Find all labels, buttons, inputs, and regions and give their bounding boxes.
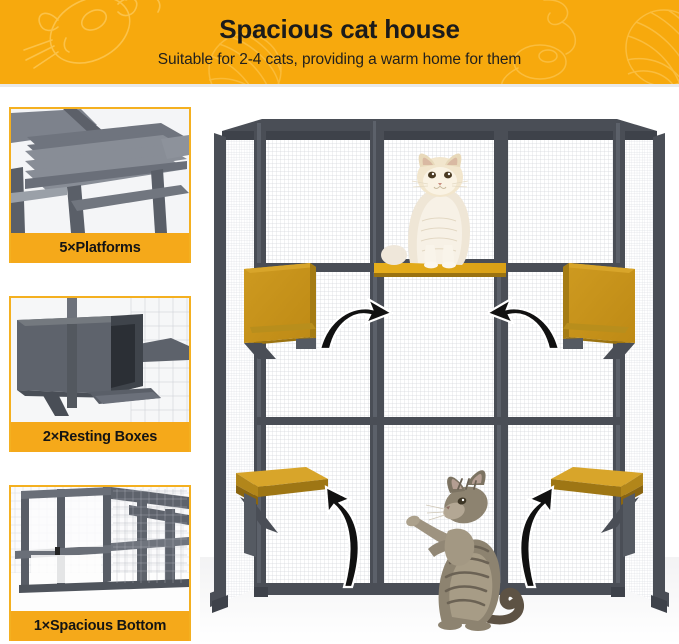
spacious-bottom-photo	[11, 487, 189, 611]
product-infographic-page: Spacious cat house Suitable for 2-4 cats…	[0, 0, 679, 644]
feature-card-caption: 2×Resting Boxes	[11, 422, 189, 452]
resting-box-photo	[11, 298, 189, 422]
top-platform	[374, 263, 506, 277]
feature-card-caption: 1×Spacious Bottom	[11, 611, 189, 641]
feature-card-list: 5×Platforms	[0, 87, 200, 644]
feature-card-caption: 5×Platforms	[11, 233, 189, 263]
platform-illustration-icon	[11, 109, 189, 233]
feature-card-spacious-bottom[interactable]: 1×Spacious Bottom	[9, 485, 191, 641]
resting-box-illustration-icon	[11, 298, 189, 422]
cat-enclosure-illustration-icon	[200, 87, 679, 644]
enclosure-bottom-illustration-icon	[11, 487, 189, 611]
platform-photo	[11, 109, 189, 233]
hero-product-image	[200, 87, 679, 644]
page-subtitle: Suitable for 2-4 cats, providing a warm …	[158, 51, 521, 69]
page-title: Spacious cat house	[219, 16, 460, 43]
header-banner: Spacious cat house Suitable for 2-4 cats…	[0, 0, 679, 84]
feature-card-resting-boxes[interactable]: 2×Resting Boxes	[9, 296, 191, 452]
banner-text-block: Spacious cat house Suitable for 2-4 cats…	[0, 0, 679, 84]
feature-card-platforms[interactable]: 5×Platforms	[9, 107, 191, 263]
